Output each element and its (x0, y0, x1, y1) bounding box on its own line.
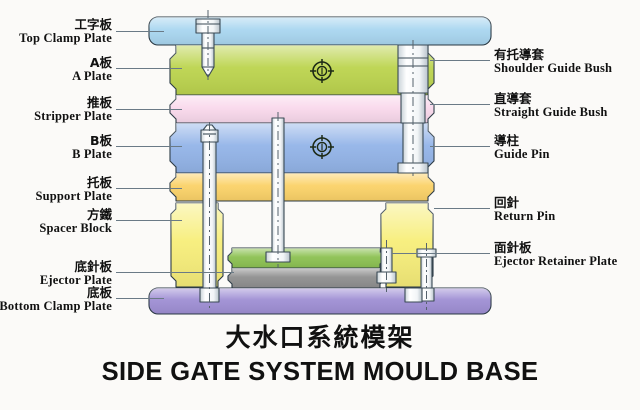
label-cn: 底針板 (40, 260, 112, 273)
label-cn: 回針 (494, 196, 555, 209)
label-en: Stripper Plate (34, 109, 112, 123)
diagram-canvas: 工字板 Top Clamp Plate A板 A Plate 推板 Stripp… (0, 0, 640, 410)
leader-straight-guide-bush (430, 104, 490, 105)
label-b-plate: B板 B Plate (72, 134, 112, 161)
label-top-clamp-plate: 工字板 Top Clamp Plate (19, 18, 112, 45)
label-cn: 方鐵 (39, 208, 112, 221)
label-support-plate: 托板 Support Plate (35, 176, 112, 203)
label-en: Guide Pin (494, 147, 550, 161)
leader-top-clamp-plate (116, 31, 164, 32)
label-return-pin: 回針 Return Pin (494, 196, 555, 223)
label-en: Support Plate (35, 189, 112, 203)
leader-ejector-plate (116, 272, 234, 273)
label-en: Bottom Clamp Plate (0, 299, 112, 313)
label-en: Spacer Block (39, 221, 112, 235)
leader-bottom-clamp-plate (116, 298, 164, 299)
label-cn: 底板 (0, 286, 112, 299)
label-cn: 托板 (35, 176, 112, 189)
leader-shoulder-guide-bush (430, 60, 490, 61)
label-stripper-plate: 推板 Stripper Plate (34, 96, 112, 123)
label-cn: 有托導套 (494, 48, 612, 61)
return-pin-rod (200, 122, 219, 312)
label-cn: A板 (72, 56, 112, 69)
label-bottom-clamp-plate: 底板 Bottom Clamp Plate (0, 286, 112, 313)
label-cn: 推板 (34, 96, 112, 109)
label-cn: B板 (72, 134, 112, 147)
label-cn: 面針板 (494, 241, 617, 254)
leader-a-plate (116, 68, 182, 69)
label-en: Top Clamp Plate (19, 31, 112, 45)
plate-ejector-plate (228, 268, 384, 288)
leader-support-plate (116, 188, 182, 189)
label-cn: 工字板 (19, 18, 112, 31)
leader-b-plate (116, 146, 182, 147)
diagram-title: 大水口系統模架 SIDE GATE SYSTEM MOULD BASE (0, 318, 640, 387)
label-cn: 導柱 (494, 134, 550, 147)
label-en: B Plate (72, 147, 112, 161)
label-en: A Plate (72, 69, 112, 83)
label-cn: 直導套 (494, 92, 608, 105)
guide-pin-column (398, 40, 428, 176)
label-ejector-retainer-plate: 面針板 Ejector Retainer Plate (494, 241, 617, 268)
label-a-plate: A板 A Plate (72, 56, 112, 83)
leader-ejector-retainer-plate (392, 253, 490, 254)
label-straight-guide-bush: 直導套 Straight Guide Bush (494, 92, 608, 119)
leader-spacer-block (116, 220, 182, 221)
label-ejector-plate: 底針板 Ejector Plate (40, 260, 112, 287)
title-english: SIDE GATE SYSTEM MOULD BASE (0, 358, 640, 387)
guide-pin-bottom-fastener (405, 288, 422, 302)
label-en: Ejector Retainer Plate (494, 254, 617, 268)
title-chinese: 大水口系統模架 (0, 318, 640, 354)
leader-stripper-plate (116, 109, 182, 110)
leader-guide-pin (430, 146, 490, 147)
label-guide-pin: 導柱 Guide Pin (494, 134, 550, 161)
label-en: Shoulder Guide Bush (494, 61, 612, 75)
leader-return-pin (434, 208, 490, 209)
label-en: Return Pin (494, 209, 555, 223)
label-en: Straight Guide Bush (494, 105, 608, 119)
plate-stripper-plate (170, 95, 434, 123)
plate-ejector-retainer-plate (228, 248, 384, 268)
label-shoulder-guide-bush: 有托導套 Shoulder Guide Bush (494, 48, 612, 75)
label-spacer-block: 方鐵 Spacer Block (39, 208, 112, 235)
